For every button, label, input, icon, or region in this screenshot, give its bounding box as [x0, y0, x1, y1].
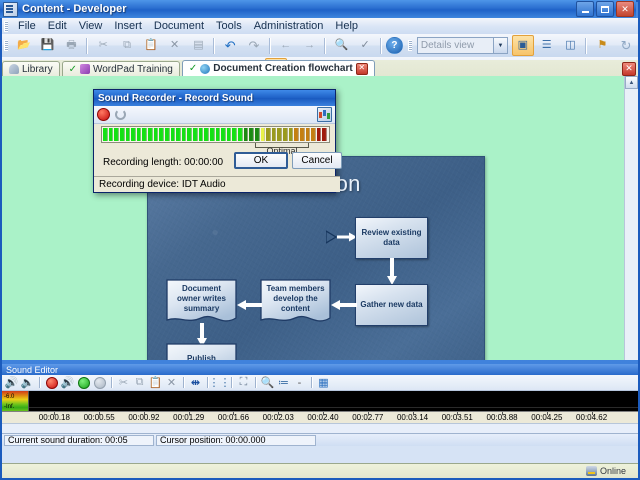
meter-segment [317, 128, 322, 141]
meter-segment [300, 128, 305, 141]
meter-segment [204, 128, 209, 141]
timeline-tick [413, 412, 414, 415]
library-icon [9, 64, 19, 74]
menu-tools[interactable]: Tools [210, 19, 248, 33]
spellcheck-icon[interactable]: ✓ [354, 35, 376, 56]
node-publish-document[interactable]: Publish document [166, 343, 237, 360]
remove-sound-icon[interactable]: 🔈 [20, 376, 35, 390]
meter-segment [159, 128, 164, 141]
meter-segment [277, 128, 282, 141]
paste-icon[interactable]: 📋 [140, 35, 162, 56]
node-document-owner-writes-summary[interactable]: Document owner writes summary [166, 279, 237, 327]
forward-icon[interactable]: → [299, 35, 321, 56]
meter-segment [120, 128, 125, 141]
timeline-tick [233, 412, 234, 415]
view-split-vertical-icon[interactable]: ◫ [560, 35, 582, 56]
scroll-up-button[interactable]: ▲ [625, 76, 638, 89]
meter-segment [165, 128, 170, 141]
waveform-midline [29, 407, 638, 408]
sound-editor-toolbar: 🔊 🔈 🔊 ✂ ⧉ 📋 ✕ ⇹ ⋮⋮ ⛶ 🔍 ≔ - ▦ [2, 375, 638, 391]
cancel-button[interactable]: Cancel [292, 152, 342, 169]
timeline-tick [144, 412, 145, 415]
se-separator-7 [311, 377, 313, 388]
record-icon[interactable] [44, 376, 59, 390]
meter-segment [176, 128, 181, 141]
waveform-area[interactable]: -6.0 -Inf. -6.0 00:00.1800:00.5500:00.92… [2, 391, 638, 446]
title-bar: Content - Developer ✕ [0, 0, 636, 18]
meter-segment [126, 128, 131, 141]
sound-editor-pane: Sound Editor 🔊 🔈 🔊 ✂ ⧉ 📋 ✕ ⇹ ⋮⋮ ⛶ 🔍 ≔ - [2, 364, 638, 476]
node-document-owner-writes-summary-label: Document owner writes summary [166, 284, 237, 314]
menu-help[interactable]: Help [329, 19, 364, 33]
node-team-members-develop-content-label: Team members develop the content [260, 284, 331, 314]
toolbar-separator-3 [269, 38, 271, 54]
timeline-tick [323, 412, 324, 415]
tab-library[interactable]: Library [2, 61, 60, 76]
record-icon[interactable] [97, 108, 110, 121]
meter-segment [171, 128, 176, 141]
wordpad-icon [80, 64, 90, 74]
meter-segment [227, 128, 232, 141]
meter-segment [187, 128, 192, 141]
cut-icon[interactable]: ✂ [92, 35, 114, 56]
toolbar-separator [86, 38, 88, 54]
back-icon[interactable]: ← [275, 35, 297, 56]
node-publish-document-label: Publish document [166, 354, 237, 360]
meter-segment [142, 128, 147, 141]
timeline-tick [547, 412, 548, 415]
crop-icon[interactable]: ⛶ [236, 376, 251, 390]
timeline-tick [592, 412, 593, 415]
sound-recorder-title-bar: Sound Recorder - Record Sound [94, 90, 335, 106]
meter-segment [114, 128, 119, 141]
online-icon [586, 466, 597, 476]
arrow-start-to-review [326, 229, 358, 245]
menu-grip[interactable] [4, 21, 8, 32]
meter-segment [210, 128, 215, 141]
window-controls: ✕ [576, 1, 634, 17]
meter-segment [131, 128, 136, 141]
tab-wordpad-training[interactable]: ✓ WordPad Training [62, 61, 180, 76]
node-gather-new-data-label: Gather new data [360, 300, 422, 310]
sound-recorder-icon[interactable]: ▦ [316, 376, 331, 390]
sound-recorder-icon[interactable] [317, 107, 332, 122]
paste-icon[interactable]: 📋 [148, 376, 163, 390]
standard-toolbar: 📂 💾 🖶 ✂ ⧉ 📋 ✕ ▤ ↶ ↷ ← → 🔍 ✓ ? Details vi… [2, 34, 638, 58]
sound-recorder-toolbar [94, 106, 335, 124]
sound-editor-title: Sound Editor [2, 364, 638, 375]
print-icon[interactable]: 🖶 [61, 35, 83, 56]
open-icon[interactable]: 📂 [13, 35, 35, 56]
canvas-vertical-scrollbar[interactable]: ▲ [624, 76, 638, 360]
meter-segment [216, 128, 221, 141]
save-icon[interactable]: 💾 [37, 35, 59, 56]
recording-length-label: Recording length: 00:00:00 [103, 157, 223, 168]
meter-segment [261, 128, 266, 141]
meter-segment [193, 128, 198, 141]
recording-device-label: Recording device: IDT Audio [94, 176, 340, 192]
se-separator-2 [111, 377, 113, 388]
delete-icon[interactable]: ✕ [164, 35, 186, 56]
maximize-button[interactable] [596, 1, 614, 17]
app-document-icon [3, 2, 18, 17]
gauge-label-top: -6.0 [4, 394, 14, 400]
meter-segment [182, 128, 187, 141]
toolbar-separator-6 [585, 38, 587, 54]
view-mode-combo[interactable]: Details view ▼ [417, 37, 508, 54]
check-icon: ✓ [69, 64, 77, 75]
menu-view[interactable]: View [73, 19, 109, 33]
sound-editor-status-bar: Current sound duration: 00:05 Cursor pos… [2, 433, 638, 446]
publish-icon[interactable]: ⚑ [591, 35, 613, 56]
document-icon [200, 64, 210, 74]
timeline-tick [368, 412, 369, 415]
redo-icon[interactable]: ↷ [243, 35, 265, 56]
meter-segment [154, 128, 159, 141]
zoom-out-icon[interactable]: - [292, 376, 307, 390]
se-separator-1 [39, 377, 41, 388]
select-all-icon[interactable]: ⇹ [188, 376, 203, 390]
insert-sound-icon[interactable]: 🔊 [4, 376, 19, 390]
application-status-bar: Online [2, 463, 638, 478]
meter-segment [311, 128, 316, 141]
meter-segment [238, 128, 243, 141]
node-team-members-develop-content[interactable]: Team members develop the content [260, 279, 331, 327]
tab-document-creation-flowchart-label: Document Creation flowchart [213, 63, 352, 74]
meter-segment [289, 128, 294, 141]
toolbar-separator-5 [380, 38, 382, 54]
meter-segment [294, 128, 299, 141]
menu-administration[interactable]: Administration [248, 19, 330, 33]
ok-button[interactable]: OK [234, 152, 288, 169]
level-meter [101, 126, 330, 143]
arrow-gather-to-team [331, 298, 357, 312]
meter-segment [322, 128, 327, 141]
window-title: Content - Developer [22, 3, 127, 15]
meter-segment [199, 128, 204, 141]
undo-icon[interactable]: ↶ [219, 35, 241, 56]
zoom-icon[interactable]: 🔍 [260, 376, 275, 390]
timeline-tick [54, 412, 55, 415]
refresh-icon[interactable]: ↻ [615, 35, 637, 56]
tab-wordpad-training-label: WordPad Training [93, 64, 173, 75]
tab-document-creation-flowchart[interactable]: ✓ Document Creation flowchart ✕ [182, 60, 375, 76]
menu-bar: File Edit View Insert Document Tools Adm… [2, 18, 638, 35]
se-separator-3 [183, 377, 185, 388]
close-button[interactable]: ✕ [616, 1, 634, 17]
node-review-existing-data-label: Review existing data [359, 228, 424, 248]
menu-document[interactable]: Document [148, 19, 210, 33]
meter-segment [306, 128, 311, 141]
meter-segment [221, 128, 226, 141]
copy-icon[interactable]: ⧉ [132, 376, 147, 390]
close-all-tabs-button[interactable]: ✕ [622, 62, 636, 76]
meter-segment [266, 128, 271, 141]
minimize-button[interactable] [576, 1, 594, 17]
zoom-level-icon[interactable]: ≔ [276, 376, 291, 390]
application-window: Content - Developer ✕ File Edit View Ins… [0, 0, 640, 480]
sound-duration-field: Current sound duration: 00:05 [4, 435, 154, 446]
markers-icon[interactable]: ⋮⋮ [212, 376, 227, 390]
view-mode-value: Details view [421, 40, 474, 51]
timeline-tick [99, 412, 100, 415]
meter-segment [137, 128, 142, 141]
arrow-team-to-owner [237, 298, 262, 312]
document-tab-bar: Library ✓ WordPad Training ✓ Document Cr… [2, 60, 638, 77]
node-gather-new-data[interactable]: Gather new data [355, 284, 428, 326]
meter-segment [244, 128, 249, 141]
tab-close-icon[interactable]: ✕ [356, 63, 368, 75]
record-append-icon[interactable]: 🔊 [60, 376, 75, 390]
toolbar-separator-4 [324, 38, 326, 54]
meter-segment [148, 128, 153, 141]
node-review-existing-data[interactable]: Review existing data [355, 217, 428, 259]
toolbar-grip-2[interactable] [408, 40, 412, 51]
meter-segment [103, 128, 108, 141]
meter-segment [255, 128, 260, 141]
menu-insert[interactable]: Insert [108, 19, 148, 33]
cut-icon[interactable]: ✂ [116, 376, 131, 390]
sound-recorder-dialog[interactable]: Sound Recorder - Record Sound Optimal Re… [93, 89, 336, 193]
play-icon[interactable] [76, 376, 91, 390]
check-icon: ✓ [189, 63, 197, 74]
stop-icon[interactable] [92, 376, 107, 390]
meter-segment [249, 128, 254, 141]
menu-edit[interactable]: Edit [42, 19, 73, 33]
delete-icon[interactable]: ✕ [164, 376, 179, 390]
toolbar-separator-2 [213, 38, 215, 54]
tab-library-label: Library [22, 64, 53, 75]
timeline-tick [278, 412, 279, 415]
rewind-icon[interactable] [115, 109, 126, 120]
sound-recorder-title: Sound Recorder - Record Sound [98, 93, 253, 104]
arrow-review-to-gather [385, 258, 399, 286]
meter-segment [283, 128, 288, 141]
gauge-label-mid: -Inf. [4, 404, 14, 410]
find-icon[interactable]: 🔍 [330, 35, 352, 56]
se-separator-5 [231, 377, 233, 388]
toolbar-grip[interactable] [4, 40, 8, 51]
timeline-tick [502, 412, 503, 415]
chevron-down-icon[interactable]: ▼ [493, 38, 507, 53]
meter-segment [232, 128, 237, 141]
timeline-tick [457, 412, 458, 415]
view-single-pane-icon[interactable]: ▣ [512, 35, 534, 56]
cursor-position-field: Cursor position: 00:00.000 [156, 435, 316, 446]
meter-segment [272, 128, 277, 141]
view-split-horizontal-icon[interactable]: ☰ [536, 35, 558, 56]
meter-segment [109, 128, 114, 141]
copy-icon[interactable]: ⧉ [116, 35, 138, 56]
properties-icon[interactable]: ▤ [188, 35, 210, 56]
help-icon[interactable]: ? [386, 37, 403, 54]
se-separator-6 [255, 377, 257, 388]
timeline-tick [189, 412, 190, 415]
menu-file[interactable]: File [12, 19, 42, 33]
online-status-label: Online [600, 466, 626, 476]
